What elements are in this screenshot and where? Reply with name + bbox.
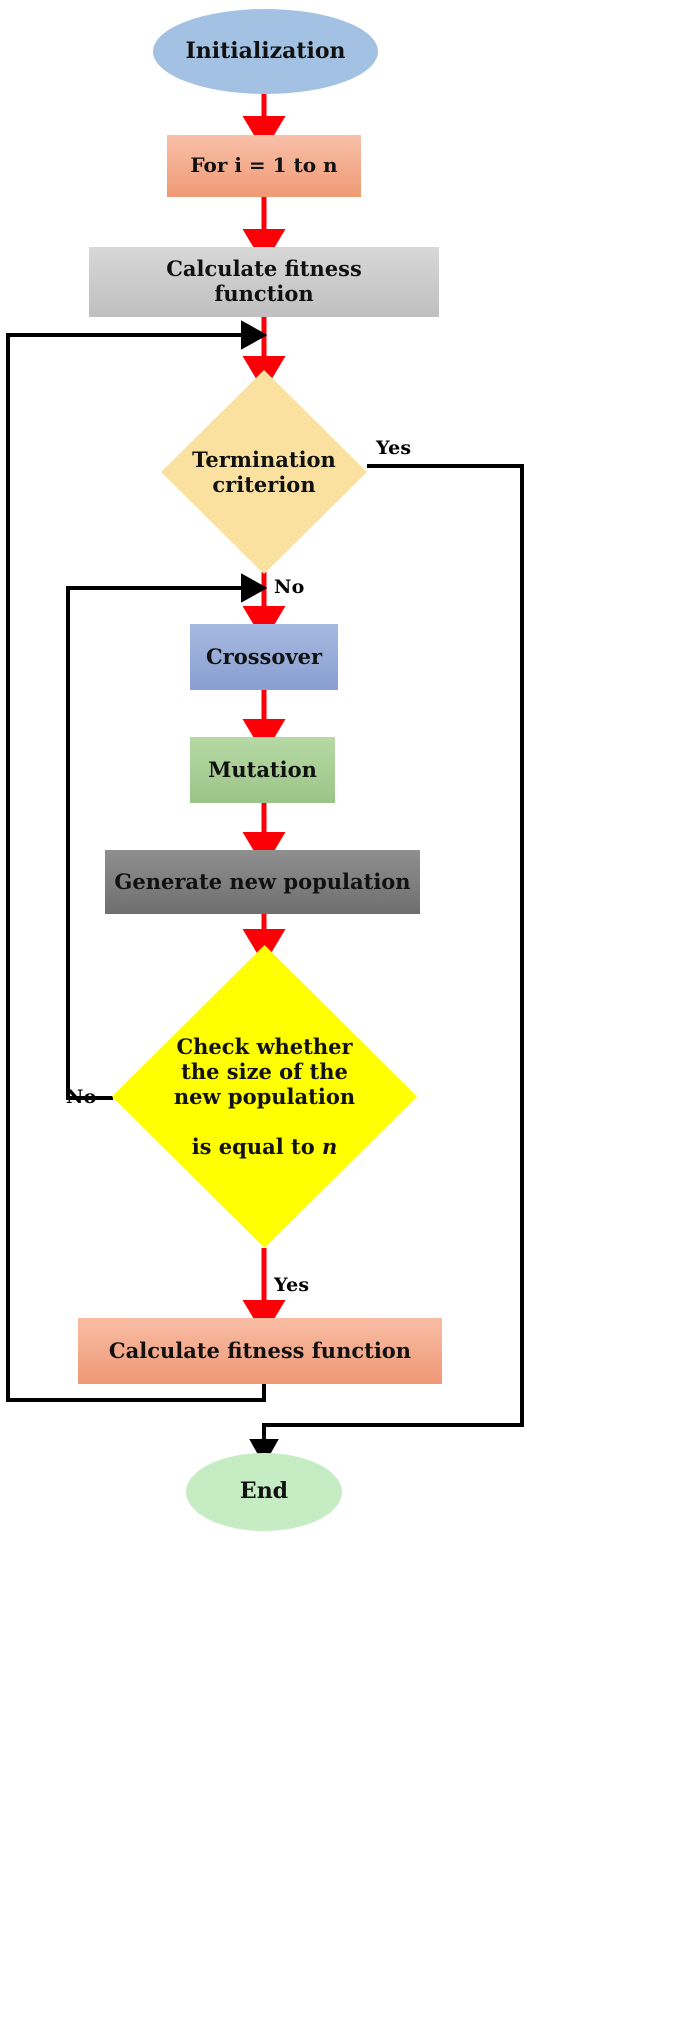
node-mutation[interactable]: Mutation	[190, 737, 335, 803]
node-mutation-label: Mutation	[208, 758, 317, 783]
node-generate-new-population-label: Generate new population	[114, 870, 410, 895]
node-termination-criterion-label: Termination criterion	[192, 447, 336, 497]
node-end-label: End	[240, 1479, 288, 1505]
node-check-size-line2: the size of the	[181, 1059, 348, 1084]
node-initialization[interactable]: Initialization	[153, 9, 378, 94]
node-calculate-fitness-1[interactable]: Calculate fitness function	[89, 247, 439, 317]
node-calculate-fitness-2-label: Calculate fitness function	[109, 1339, 411, 1364]
edge-label-termination-no: No	[274, 576, 304, 598]
node-generate-new-population[interactable]: Generate new population	[105, 850, 420, 914]
node-crossover-label: Crossover	[206, 645, 322, 670]
flowchart-canvas: Initialization For i = 1 to n Calculate …	[0, 0, 685, 2042]
node-for-loop-label: For i = 1 to n	[190, 154, 337, 178]
node-calculate-fitness-2[interactable]: Calculate fitness function	[78, 1318, 442, 1384]
node-for-loop[interactable]: For i = 1 to n	[167, 135, 361, 197]
node-end[interactable]: End	[186, 1453, 342, 1531]
node-check-size-line4-text: is equal to	[192, 1134, 322, 1159]
node-crossover[interactable]: Crossover	[190, 624, 338, 690]
node-check-size-line1: Check whether	[176, 1034, 352, 1059]
node-initialization-label: Initialization	[185, 39, 345, 65]
node-calculate-fitness-1-label: Calculate fitness function	[166, 257, 362, 307]
edge-label-termination-yes: Yes	[376, 437, 411, 459]
node-check-size-line4: is equal to n	[192, 1109, 338, 1159]
node-check-size[interactable]: Check whether the size of the new popula…	[112, 945, 417, 1248]
node-check-size-variable-n: n	[322, 1134, 337, 1159]
edge-label-check-no: No	[66, 1086, 96, 1108]
node-check-size-line3: new population	[174, 1084, 355, 1109]
edge-label-check-yes: Yes	[274, 1274, 309, 1296]
node-termination-criterion[interactable]: Termination criterion	[161, 370, 367, 574]
